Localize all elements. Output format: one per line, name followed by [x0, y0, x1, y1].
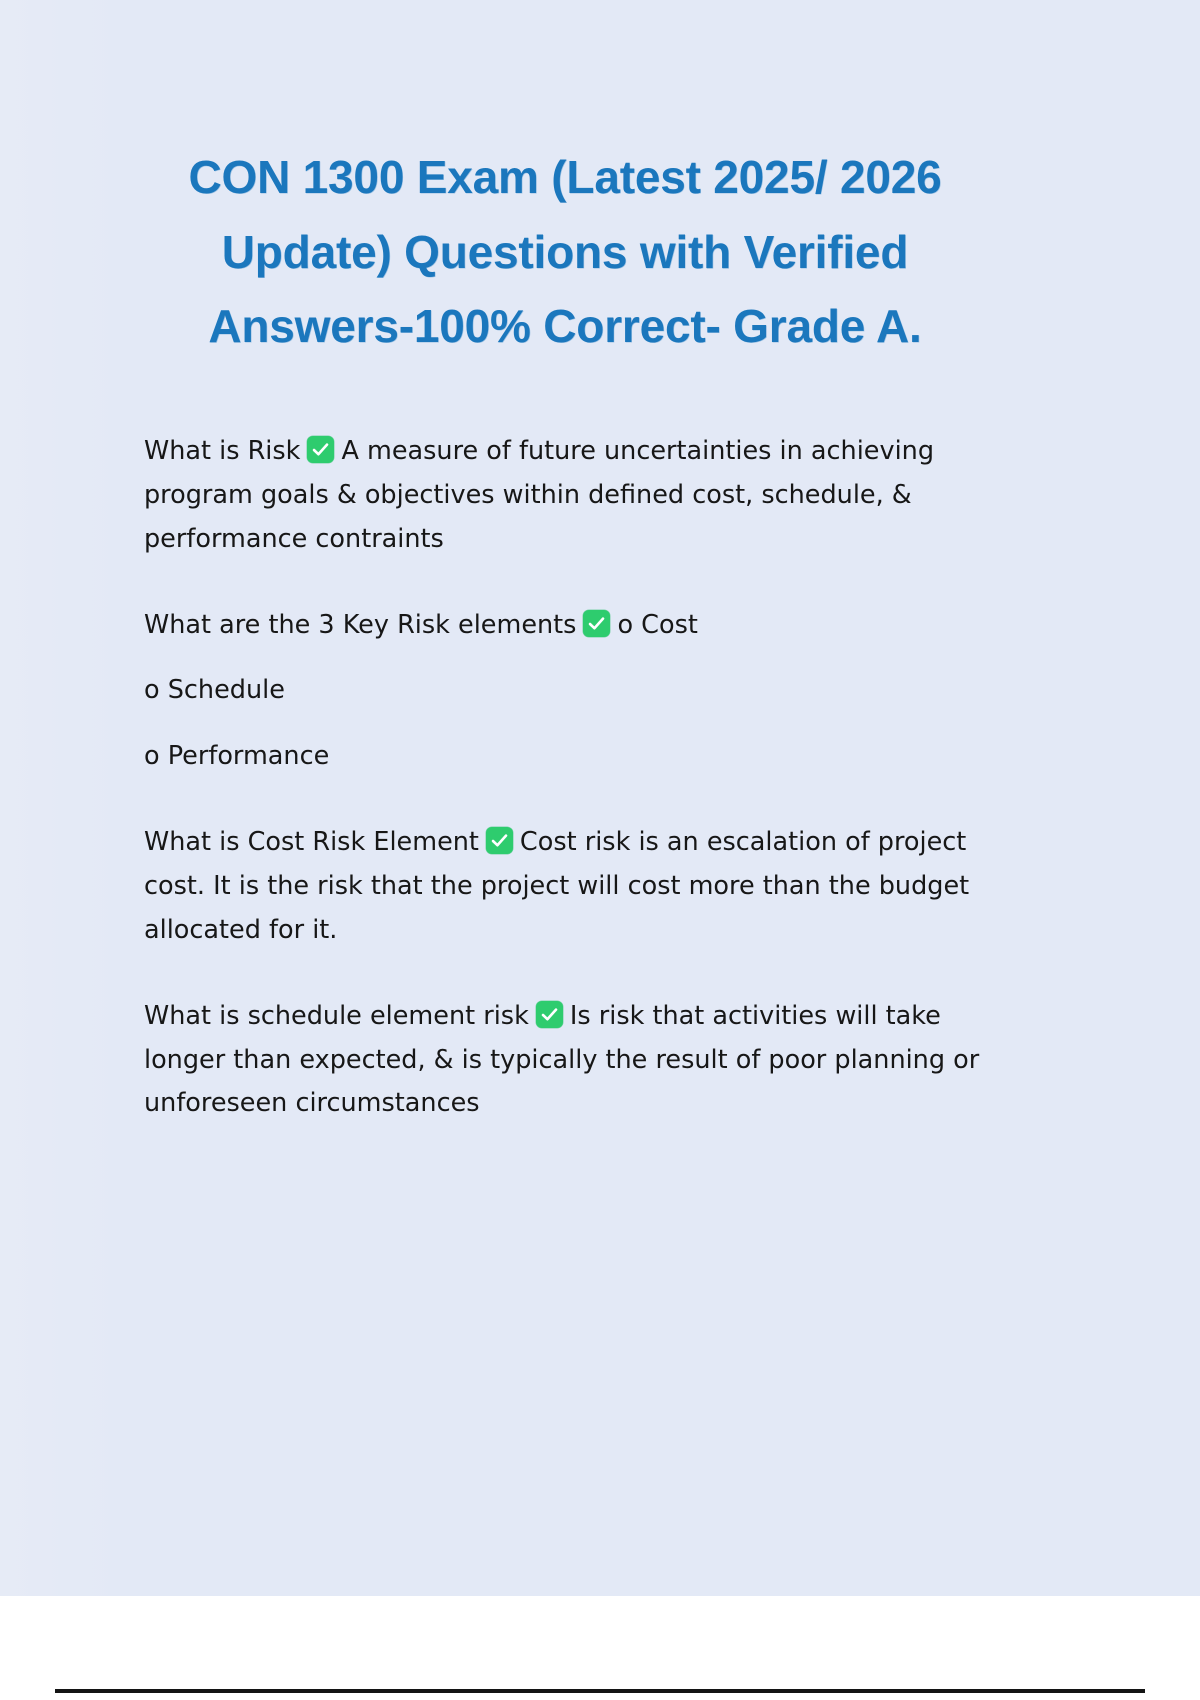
green-check-icon [486, 827, 513, 854]
qa-line: What is Cost Risk ElementCost risk is an… [144, 821, 1016, 953]
page-title: CON 1300 Exam (Latest 2025/ 2026 Update)… [140, 140, 990, 364]
question-text: What is Cost Risk Element [144, 827, 479, 857]
page-title-line-1: CON 1300 Exam (Latest 2025/ 2026 [140, 140, 990, 215]
green-check-icon [307, 436, 334, 463]
green-check-icon [536, 1001, 563, 1028]
qa-line: What is schedule element riskIs risk tha… [144, 995, 1016, 1127]
answer-extra-line: o Performance [144, 735, 1016, 779]
document-page: CON 1300 Exam (Latest 2025/ 2026 Update)… [0, 0, 1200, 1596]
qa-block: What is schedule element riskIs risk tha… [144, 995, 1016, 1127]
qa-line: What are the 3 Key Risk elementso Cost [144, 604, 1016, 648]
green-check-icon [583, 610, 610, 637]
question-text: What is Risk [144, 436, 300, 466]
answer-extra-line: o Schedule [144, 669, 1016, 713]
footer-divider [55, 1689, 1145, 1693]
qa-block: What are the 3 Key Risk elementso Cost o… [144, 604, 1016, 780]
qa-line: What is RiskA measure of future uncertai… [144, 430, 1016, 562]
qa-content: What is RiskA measure of future uncertai… [144, 430, 1016, 1126]
qa-block: What is RiskA measure of future uncertai… [144, 430, 1016, 562]
question-text: What is schedule element risk [144, 1001, 529, 1031]
page-title-line-3: Answers-100% Correct- Grade A. [140, 289, 990, 364]
qa-block: What is Cost Risk ElementCost risk is an… [144, 821, 1016, 953]
page-title-line-2: Update) Questions with Verified [140, 215, 990, 290]
question-text: What are the 3 Key Risk elements [144, 610, 576, 640]
answer-text: o Cost [617, 610, 697, 640]
